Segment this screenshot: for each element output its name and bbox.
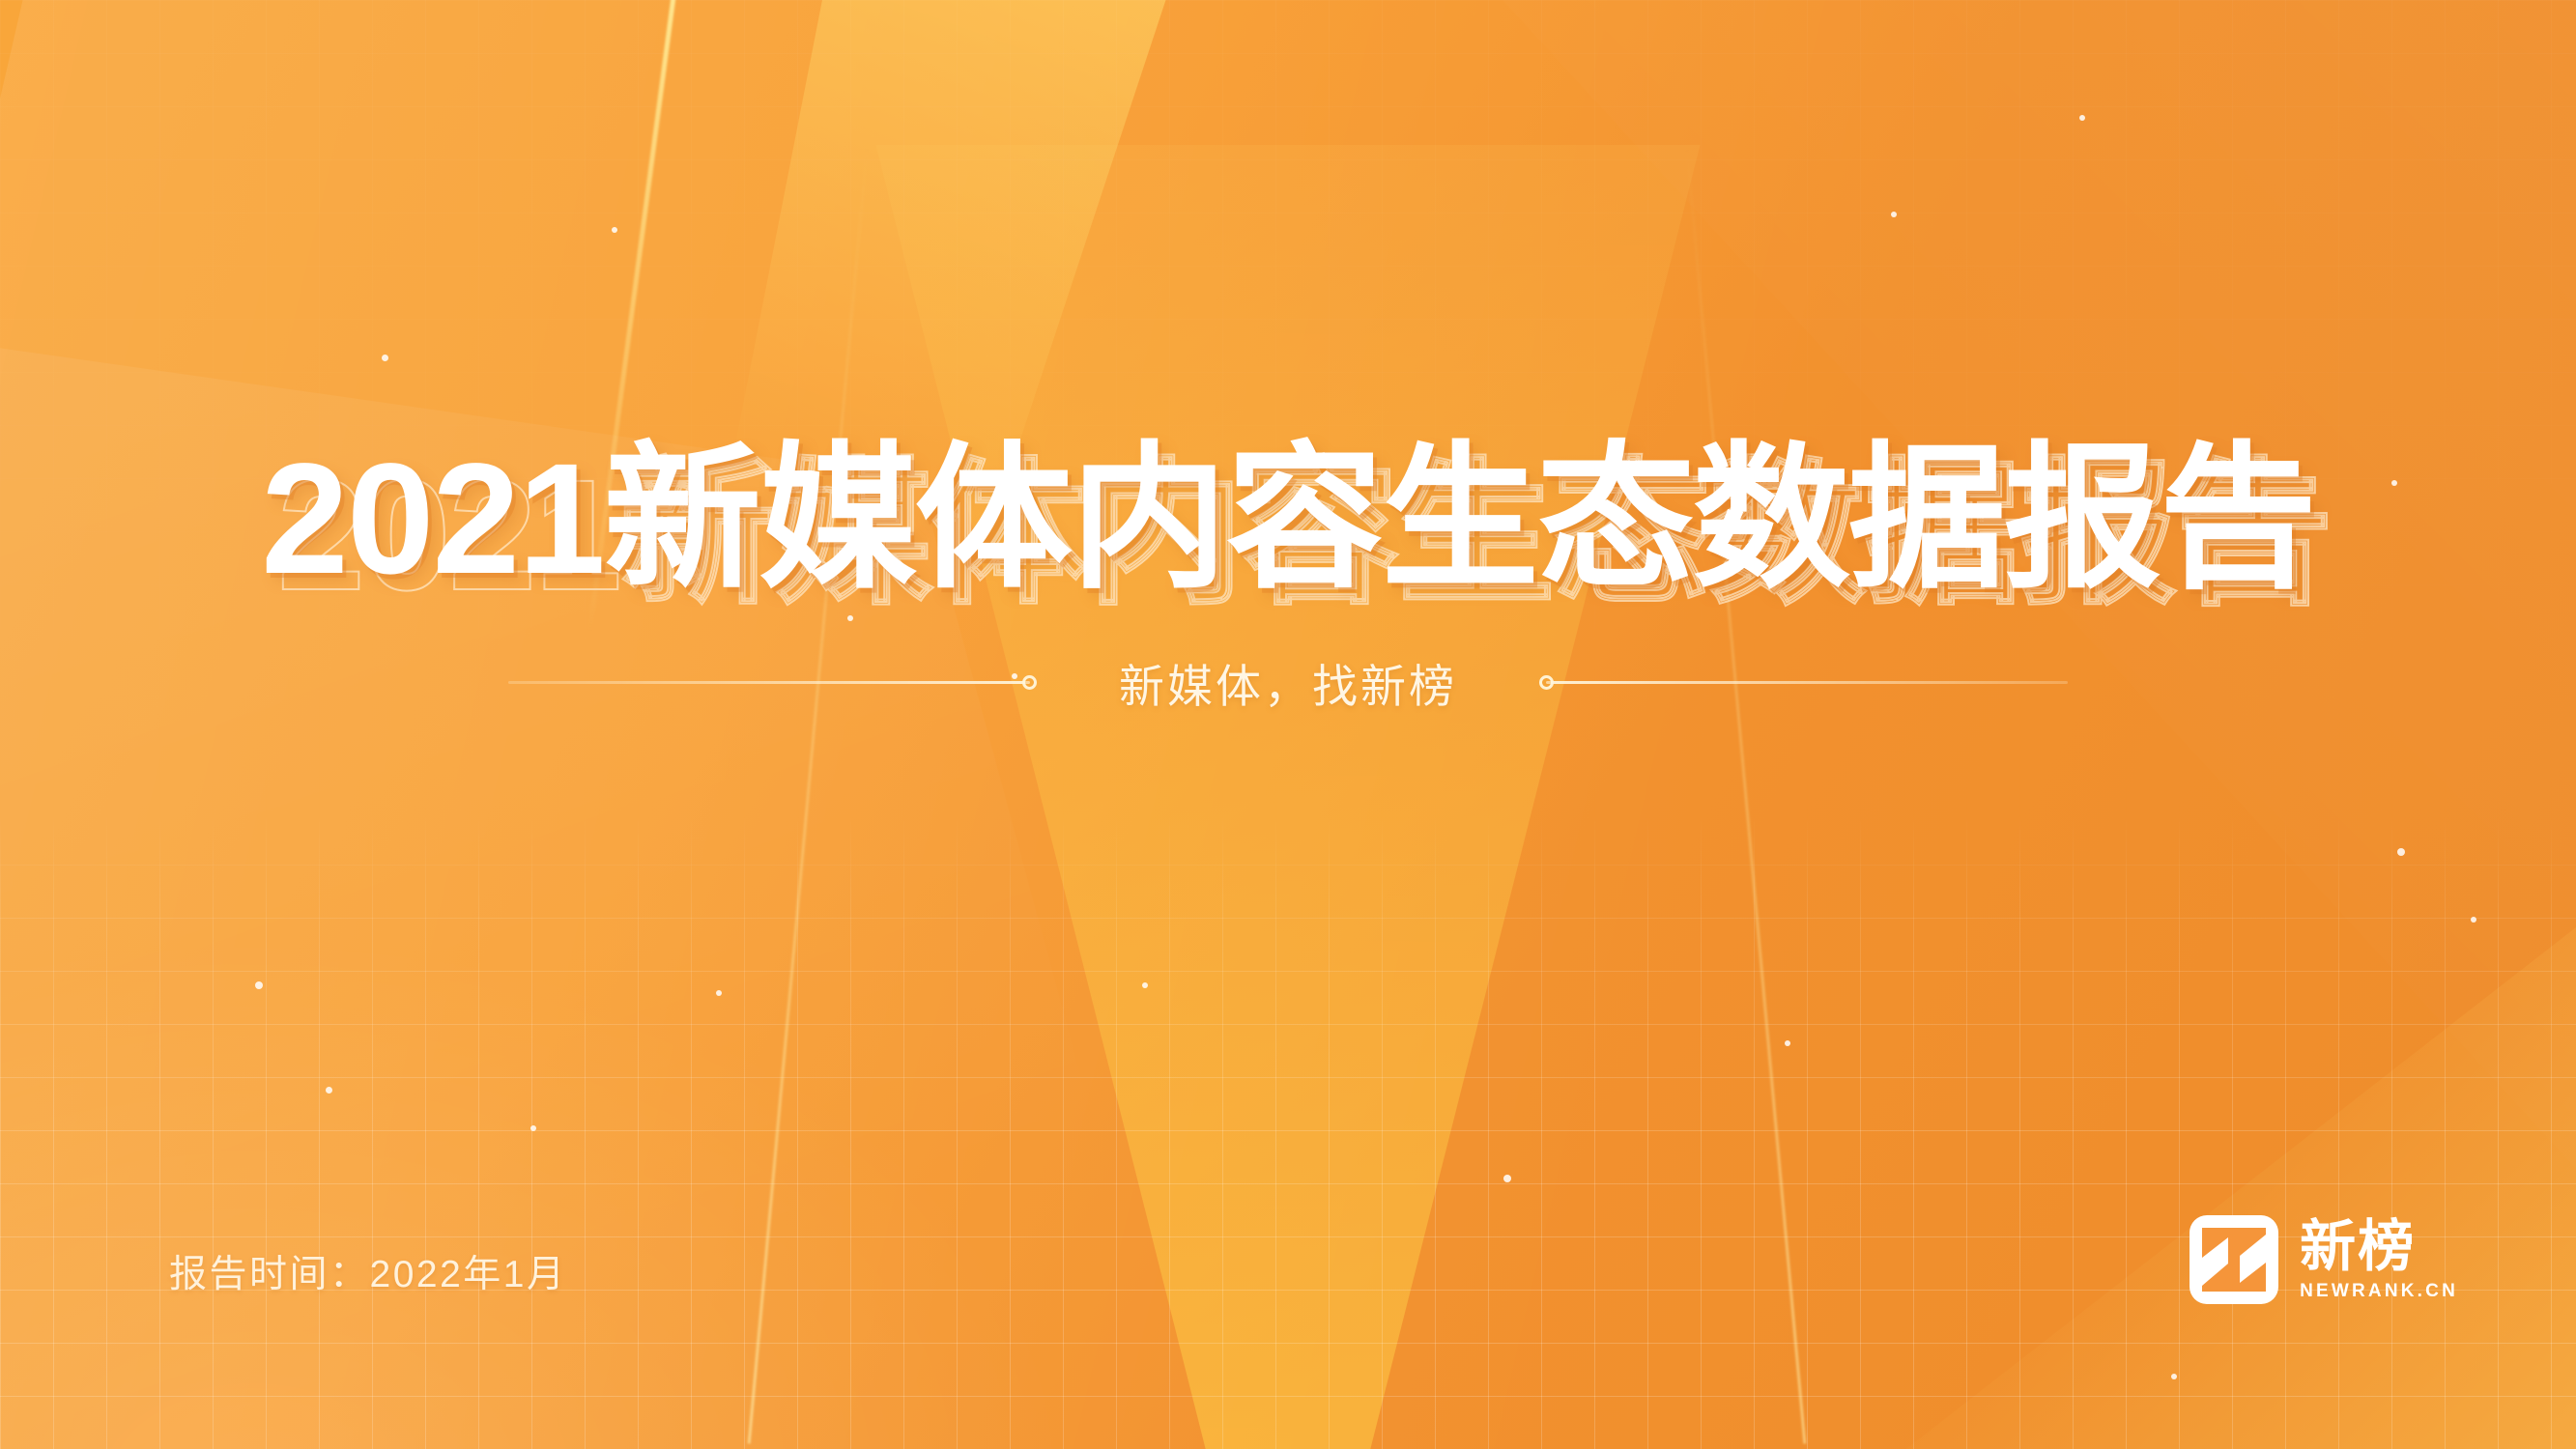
grid-pattern-overlay [0,811,2576,1449]
sparkle-dot [1785,1040,1790,1046]
logo-name-en: NEWRANK.CN [2300,1282,2458,1300]
sparkle-dot [2171,1374,2177,1379]
sparkle-dot [1503,1175,1511,1182]
divider-line-left [508,681,1030,684]
title-slide: 2021新媒体内容生态数据报告 2021新媒体内容生态数据报告 新媒体，找新榜 … [0,0,2576,1449]
sparkle-dot [530,1125,536,1131]
sparkle-dot [2471,917,2476,923]
newrank-z-mark-icon [2190,1215,2278,1304]
v-wedge-left-edge [747,145,868,1444]
sparkle-dot [612,227,617,233]
sparkle-dot [326,1087,332,1094]
sparkle-dot [382,355,388,361]
sparkle-dot [2079,115,2085,121]
newrank-logo: 新榜 NEWRANK.CN [2190,1215,2458,1304]
divider-knob-right-icon [1539,675,1554,690]
report-date: 报告时间：2022年1月 [169,1244,566,1298]
divider-line-right [1546,681,2068,684]
subtitle-row: 新媒体，找新榜 [0,649,2576,716]
sparkle-dot [255,981,263,989]
title-block: 2021新媒体内容生态数据报告 2021新媒体内容生态数据报告 [0,440,2576,597]
diagonal-band-shape [0,0,1969,1449]
sparkle-dot [716,990,722,996]
divider-knob-left-icon [1022,675,1037,690]
title-stack: 2021新媒体内容生态数据报告 2021新媒体内容生态数据报告 [261,440,2315,597]
sparkle-dot [1142,982,1148,988]
sparkle-dot [2397,848,2405,856]
logo-text-group: 新榜 NEWRANK.CN [2300,1219,2458,1300]
v-wedge-right-edge [1685,145,1806,1444]
page-title: 2021新媒体内容生态数据报告 [261,440,2315,597]
subtitle: 新媒体，找新榜 [1030,649,1546,716]
logo-name-cn: 新榜 [2300,1219,2458,1275]
bottom-right-corner-shape [1906,927,2576,1449]
center-v-wedge-shape [875,145,1700,1449]
bottom-left-glow-shape [0,927,1082,1449]
sparkle-dot [1891,212,1897,217]
